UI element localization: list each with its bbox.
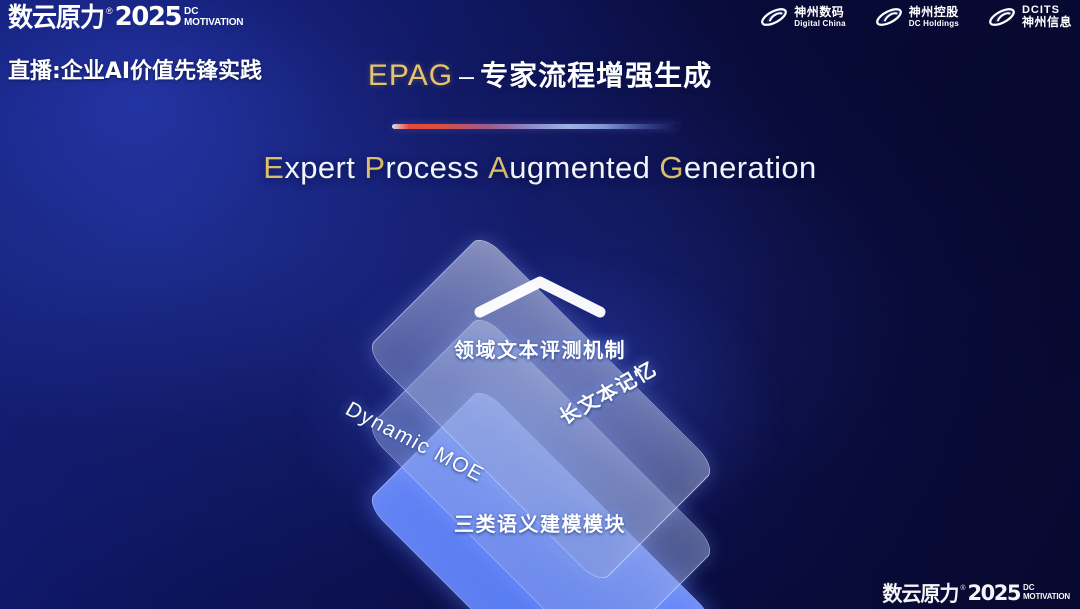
subtitle-rest-augmented: ugmented — [509, 150, 650, 185]
subtitle-cap-g: G — [659, 150, 684, 185]
brand-logo-year: 2025 — [115, 2, 181, 32]
slide-title-chinese: 专家流程增强生成 — [480, 59, 712, 92]
partner-logo-dcits: DCITS 神州信息 — [987, 4, 1072, 30]
partner-label-digital-china: 神州数码 Digital China — [794, 5, 846, 29]
swoosh-icon — [759, 4, 789, 30]
slide-title-dash: – — [453, 61, 480, 91]
footer-watermark-logo: 数云原力 ® 2025 DC MOTIVATION — [882, 581, 1070, 605]
title-divider — [392, 124, 678, 129]
partner-label-dc-holdings: 神州控股 DC Holdings — [909, 5, 959, 29]
slide-title-acronym: EPAG — [368, 59, 453, 92]
partner-name-cn: 神州控股 — [909, 5, 959, 19]
partner-label-dcits: DCITS 神州信息 — [1022, 5, 1072, 29]
brand-logo-dc-block: DC MOTIVATION — [184, 2, 243, 28]
footer-logo-chinese: 数云原力 — [882, 581, 958, 606]
slide-subtitle: Expert Process Augmented Generation — [0, 150, 1080, 186]
partner-name-cn: 神州数码 — [794, 5, 846, 19]
subtitle-rest-generation: eneration — [684, 150, 817, 185]
live-stream-label: 直播:企业AI价值先锋实践 — [8, 53, 262, 85]
partner-logo-digital-china: 神州数码 Digital China — [759, 4, 846, 30]
footer-logo-year: 2025 — [968, 581, 1020, 605]
layer-stack-diagram: 领域文本评测机制 Dynamic MOE 长文本记忆 三类语义建模模块 — [285, 228, 795, 588]
brand-logo-chinese: 数云原力 — [8, 2, 104, 34]
slide-root: 数云原力 ® 2025 DC MOTIVATION 直播:企业AI价值先锋实践 … — [0, 0, 1080, 609]
brand-logo-registered-mark: ® — [106, 2, 113, 18]
footer-logo-motivation: MOTIVATION — [1023, 592, 1070, 601]
subtitle-rest-process: rocess — [385, 150, 479, 185]
footer-logo-registered-mark: ® — [960, 581, 965, 594]
brand-logo: 数云原力 ® 2025 DC MOTIVATION — [8, 2, 243, 32]
partner-name-en: DCITS — [1022, 5, 1072, 15]
partner-name-cn: 神州信息 — [1022, 15, 1072, 29]
swoosh-icon — [874, 4, 904, 30]
partner-name-en: DC Holdings — [909, 19, 959, 29]
swoosh-icon — [987, 4, 1017, 30]
subtitle-cap-p: P — [364, 150, 385, 185]
partner-logo-group: 神州数码 Digital China 神州控股 DC Holdings — [759, 4, 1072, 30]
footer-logo-dc-block: DC MOTIVATION — [1023, 581, 1070, 601]
footer-logo-dc: DC — [1023, 584, 1070, 592]
partner-name-en: Digital China — [794, 19, 846, 29]
subtitle-rest-expert: xpert — [284, 150, 355, 185]
subtitle-cap-a: A — [488, 150, 509, 185]
brand-logo-dc: DC — [184, 7, 243, 17]
partner-logo-dc-holdings: 神州控股 DC Holdings — [874, 4, 959, 30]
brand-logo-motivation: MOTIVATION — [184, 17, 243, 28]
subtitle-cap-e: E — [263, 150, 284, 185]
